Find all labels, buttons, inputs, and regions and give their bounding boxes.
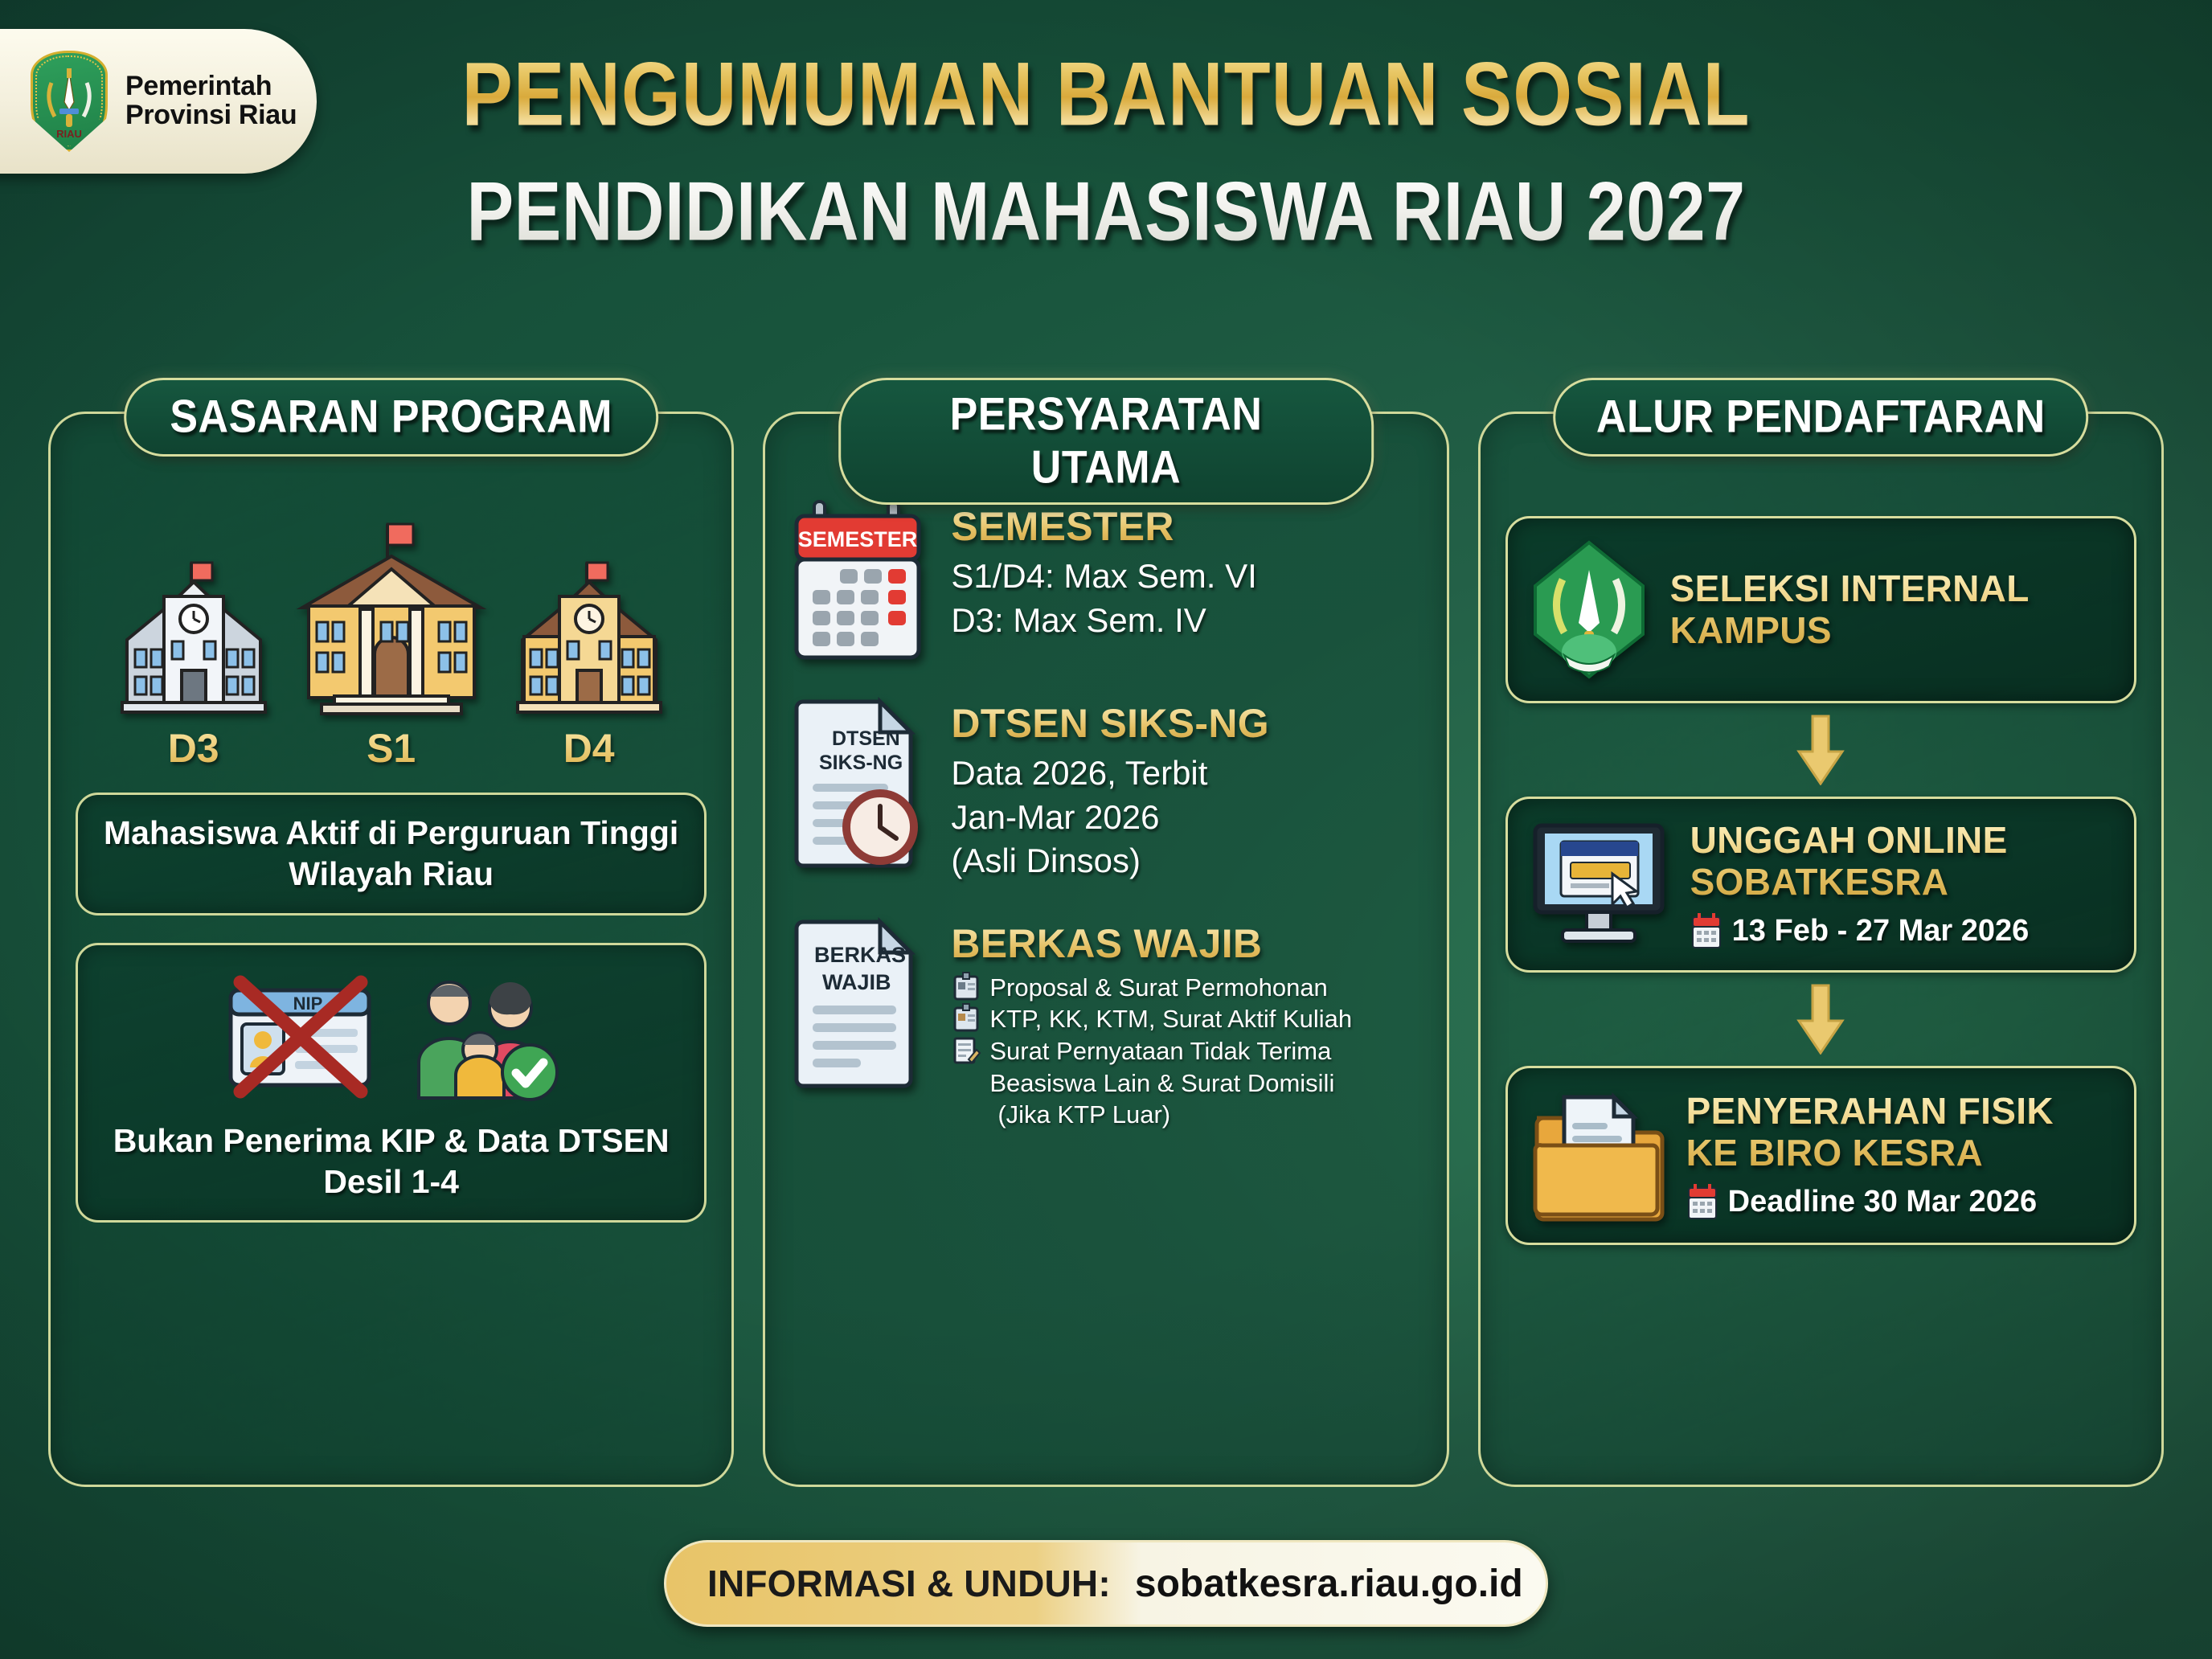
requirement-title-dtsen: DTSEN SIKS-NG: [951, 700, 1269, 747]
flow-step-penyerahan-fisik[interactable]: PENYERAHAN FISIK KE BIRO KESRA Deadline …: [1505, 1066, 2136, 1245]
requirement-line: Data 2026, Terbit: [951, 752, 1269, 796]
school-building-icon: [117, 551, 270, 720]
school-label-d4: D4: [513, 725, 666, 772]
calendar-icon: SEMESTER: [790, 498, 927, 663]
box-bukan-penerima-kip: NIP: [76, 943, 707, 1223]
svg-text:SEMESTER: SEMESTER: [798, 527, 918, 551]
requirement-line: D3: Max Sem. IV: [951, 599, 1256, 643]
logo-line-1: Pemerintah: [125, 72, 297, 101]
school-item-d4: D4: [513, 551, 666, 772]
svg-text:DTSEN: DTSEN: [832, 727, 900, 750]
svg-text:WAJIB: WAJIB: [822, 970, 891, 994]
heading-sasaran-program: SASARAN PROGRAM: [124, 378, 659, 457]
flow-step-title: SELEKSI INTERNAL KAMPUS: [1670, 568, 2113, 651]
svg-text:RIAU: RIAU: [56, 128, 82, 140]
list-item: Surat Pernyataan Tidak Terima: [951, 1035, 1352, 1067]
page-title-line-2: PENDIDIKAN MAHASISWA RIAU 2027: [0, 163, 2212, 260]
school-label-s1: S1: [291, 725, 492, 772]
school-item-d3: D3: [117, 551, 270, 772]
requirement-line: Jan-Mar 2026: [951, 796, 1269, 840]
column-sasaran-program: SASARAN PROGRAM: [48, 378, 734, 1487]
calendar-icon: [1686, 1183, 1718, 1220]
flow-step-title: PENYERAHAN FISIK KE BIRO KESRA: [1686, 1091, 2113, 1174]
requirement-line: S1/D4: Max Sem. VI: [951, 555, 1256, 599]
school-item-s1: S1: [291, 519, 492, 772]
berkas-continuation-line: (Jika KTP Luar): [997, 1099, 1352, 1131]
school-icons-row: D3: [76, 519, 707, 772]
flow-step-date: Deadline 30 Mar 2026: [1686, 1183, 2113, 1220]
school-building-icon: [513, 551, 666, 720]
folder-documents-icon: [1529, 1089, 1665, 1222]
header-titles: PENGUMUMAN BANTUAN SOSIAL PENDIDIKAN MAH…: [0, 43, 2212, 245]
requirement-title-semester: SEMESTER: [951, 503, 1256, 550]
university-building-icon: [291, 519, 492, 720]
berkas-continuation-line: Beasiswa Lain & Surat Domisili: [989, 1067, 1352, 1100]
requirement-line: (Asli Dinsos): [951, 839, 1269, 883]
down-arrow-icon: [1792, 984, 1849, 1055]
flow-step-title: UNGGAH ONLINE SOBATKESRA: [1690, 820, 2113, 903]
signed-document-icon: [951, 1035, 981, 1066]
flow-step-seleksi-internal[interactable]: SELEKSI INTERNAL KAMPUS: [1505, 516, 2136, 703]
svg-text:BERKAS: BERKAS: [814, 943, 906, 967]
content-columns: SASARAN PROGRAM: [48, 378, 2164, 1487]
flow-step-unggah-online[interactable]: UNGGAH ONLINE SOBATKESRA 13 Feb - 27 Mar…: [1505, 797, 2136, 973]
down-arrow-icon: [1792, 715, 1849, 785]
calendar-icon: [1690, 912, 1722, 949]
requirement-semester: SEMESTER SEMESTER S1/D4: Max Sem. VI: [790, 498, 1421, 663]
svg-text:NIP: NIP: [293, 993, 322, 1014]
family-approved-icon: [403, 969, 563, 1106]
logo-line-2: Provinsi Riau: [125, 101, 297, 130]
footer-label: INFORMASI & UNDUH:: [666, 1542, 1124, 1624]
campus-emblem-icon: [1529, 539, 1649, 680]
government-logo-badge: RIAU Pemerintah Provinsi Riau: [0, 29, 317, 174]
flow-arrow-2: [1505, 973, 2136, 1066]
heading-persyaratan-utama: PERSYARATAN UTAMA: [838, 378, 1374, 505]
school-label-d3: D3: [117, 725, 270, 772]
requirement-dtsen: DTSEN SIKS-NG DTSEN SIKS-NG Data 2026, T…: [790, 695, 1421, 883]
footer-info-bar[interactable]: INFORMASI & UNDUH: sobatkesra.riau.go.id: [664, 1540, 1548, 1627]
berkas-list: Proposal & Surat Permohonan KTP, KK, KTM…: [951, 972, 1352, 1131]
requirement-berkas-wajib: BERKAS WAJIB BERKAS WAJIB: [790, 916, 1421, 1131]
flow-arrow-1: [1505, 703, 2136, 797]
flow-step-date: 13 Feb - 27 Mar 2026: [1690, 912, 2113, 949]
svg-text:SIKS-NG: SIKS-NG: [819, 752, 903, 774]
column-alur-pendaftaran: ALUR PENDAFTARAN SELEKSI INTERNAL KAMPUS: [1478, 378, 2164, 1487]
id-badge-icon: [951, 1003, 981, 1034]
id-card-crossed-out-icon: NIP: [219, 969, 380, 1106]
list-item: Proposal & Surat Permohonan: [951, 972, 1352, 1004]
heading-alur-pendaftaran: ALUR PENDAFTARAN: [1554, 378, 2089, 457]
box-mahasiswa-aktif: Mahasiswa Aktif di Perguruan Tinggi Wila…: [76, 793, 707, 916]
footer-url[interactable]: sobatkesra.riau.go.id: [1124, 1542, 1546, 1624]
requirement-title-berkas: BERKAS WAJIB: [951, 920, 1352, 967]
column-persyaratan-utama: PERSYARATAN UTAMA SEMESTER: [763, 378, 1448, 1487]
riau-provincial-crest-icon: RIAU: [31, 51, 108, 152]
page-title-line-1: PENGUMUMAN BANTUAN SOSIAL: [0, 43, 2212, 147]
document-icon: BERKAS WAJIB: [790, 916, 927, 1088]
document-clock-icon: DTSEN SIKS-NG: [790, 695, 927, 868]
id-badge-icon: [951, 972, 981, 1002]
monitor-upload-icon: [1529, 821, 1669, 949]
list-item: KTP, KK, KTM, Surat Aktif Kuliah: [951, 1003, 1352, 1035]
